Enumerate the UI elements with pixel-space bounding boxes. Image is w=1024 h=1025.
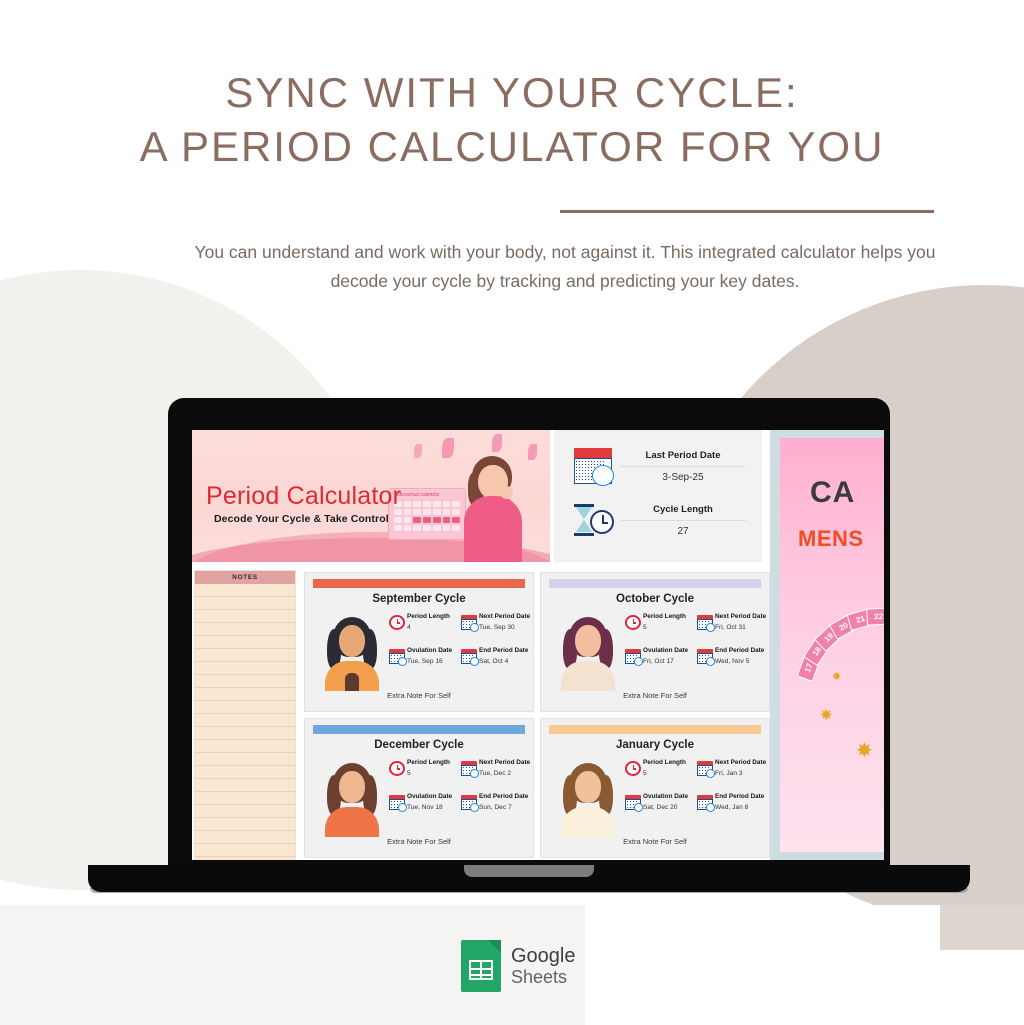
calendar-clock-icon [697, 615, 713, 630]
cycle-card-fields: Period Length5Next Period DateFri, Oct 3… [625, 613, 765, 685]
laptop-screen: Menstrual calendar [192, 430, 884, 860]
spreadsheet-canvas: Menstrual calendar [192, 430, 884, 860]
cycle-field-value: Sun, Dec 7 [479, 804, 512, 811]
clock-icon [389, 761, 405, 776]
product-name: Sheets [511, 967, 576, 987]
cycle-field-label: Period Length [407, 613, 450, 620]
cycle-card-note[interactable]: Extra Note For Self [305, 691, 533, 700]
notes-line[interactable] [195, 623, 295, 636]
calendar-clock-icon [461, 649, 477, 664]
notes-line[interactable] [195, 766, 295, 779]
notes-line[interactable] [195, 688, 295, 701]
cycle-field-label: Next Period Date [479, 759, 530, 766]
cycle-field-value: Tue, Dec 2 [479, 770, 511, 777]
cycle-card-avatar [551, 759, 625, 837]
cycle-card-color-bar [549, 725, 761, 734]
notes-panel-header: NOTES [195, 571, 295, 584]
cycle-field-value: Tue, Sep 16 [407, 658, 443, 665]
calendar-clock-icon [697, 795, 713, 810]
notes-line[interactable] [195, 792, 295, 805]
cycle-card-note[interactable]: Extra Note For Self [305, 837, 533, 846]
calendar-clock-icon [389, 795, 405, 810]
notes-line[interactable] [195, 636, 295, 649]
notes-line[interactable] [195, 753, 295, 766]
notes-line[interactable] [195, 610, 295, 623]
background-bottom-right [940, 905, 1024, 950]
notes-line[interactable] [195, 779, 295, 792]
side-poster-heading-top: CA [810, 476, 855, 510]
cycle-card-avatar [315, 759, 389, 837]
cycle-field-value: Wed, Jan 8 [715, 804, 748, 811]
cycle-field-label: Period Length [643, 613, 686, 620]
cycle-card-title: September Cycle [305, 593, 533, 605]
notes-line[interactable] [195, 740, 295, 753]
notes-line[interactable] [195, 831, 295, 844]
calendar-clock-icon [574, 448, 612, 484]
clock-icon [625, 761, 641, 776]
cycle-card-title: December Cycle [305, 739, 533, 751]
cycle-dial-day: 22 [866, 607, 884, 625]
cycle-field-value: Fri, Jan 3 [715, 770, 742, 777]
calendar-clock-icon [461, 761, 477, 776]
cycle-field-label: Next Period Date [715, 759, 766, 766]
cycle-card-october[interactable]: October CyclePeriod Length5Next Period D… [540, 572, 770, 712]
cycle-field-label: Period Length [407, 759, 450, 766]
calendar-clock-icon [625, 795, 641, 810]
calendar-clock-icon [389, 649, 405, 664]
notes-line[interactable] [195, 675, 295, 688]
summary-info-panel: Last Period Date 3-Sep-25 Cycle Length 2… [554, 430, 762, 562]
banner-calendar-caption: Menstrual calendar [397, 492, 440, 498]
cycle-field-label: Ovulation Date [643, 647, 688, 654]
cycle-card-color-bar [549, 579, 761, 588]
clock-icon [625, 615, 641, 630]
cycle-field-value: Fri, Oct 17 [643, 658, 674, 665]
cycle-card-title: January Cycle [541, 739, 769, 751]
cycle-card-title: October Cycle [541, 593, 769, 605]
banner-header: Menstrual calendar [192, 430, 550, 562]
cycle-card-fields: Period Length4Next Period DateTue, Sep 3… [389, 613, 529, 685]
side-poster-panel: CA MENS 17181920212223242526 ✸ ✸ ✸ [770, 430, 884, 860]
notes-lines[interactable] [195, 584, 295, 860]
cycle-card-note[interactable]: Extra Note For Self [541, 837, 769, 846]
calendar-clock-icon [697, 761, 713, 776]
cycle-card-color-bar [313, 579, 525, 588]
notes-line[interactable] [195, 844, 295, 857]
cycle-field-label: End Period Date [715, 793, 764, 800]
notes-line[interactable] [195, 727, 295, 740]
notes-line[interactable] [195, 597, 295, 610]
cycle-field-label: Ovulation Date [643, 793, 688, 800]
cycle-length-label: Cycle Length [620, 504, 746, 515]
page-title-line-1: SYNC WITH YOUR CYCLE: [0, 66, 1024, 120]
calendar-clock-icon [697, 649, 713, 664]
notes-line[interactable] [195, 662, 295, 675]
notes-line[interactable] [195, 584, 295, 597]
cycle-field-value: 5 [643, 624, 647, 631]
cycle-field-label: End Period Date [479, 647, 528, 654]
cycle-card-fields: Period Length5Next Period DateTue, Dec 2… [389, 759, 529, 831]
last-period-date-value[interactable]: 3-Sep-25 [620, 466, 746, 483]
cycle-card-avatar [551, 613, 625, 691]
page-title-line-2: A PERIOD CALCULATOR FOR YOU [0, 120, 1024, 174]
page-title: SYNC WITH YOUR CYCLE: A PERIOD CALCULATO… [0, 66, 1024, 174]
laptop-mockup: Menstrual calendar [168, 398, 890, 888]
google-sheets-icon [461, 940, 501, 992]
notes-line[interactable] [195, 714, 295, 727]
cycle-field-label: Ovulation Date [407, 647, 452, 654]
cycle-field-value: Tue, Sep 30 [479, 624, 515, 631]
cycle-card-note[interactable]: Extra Note For Self [541, 691, 769, 700]
cycle-card-january[interactable]: January CyclePeriod Length5Next Period D… [540, 718, 770, 858]
notes-line[interactable] [195, 857, 295, 860]
title-divider [560, 210, 934, 213]
side-poster-inner: CA MENS 17181920212223242526 ✸ ✸ ✸ [780, 438, 884, 852]
cycle-length-value[interactable]: 27 [620, 520, 746, 537]
banner-subtitle: Decode Your Cycle & Take Control [214, 513, 389, 525]
cycle-field-label: Ovulation Date [407, 793, 452, 800]
cycle-field-label: Next Period Date [479, 613, 530, 620]
cycle-field-value: Wed, Nov 5 [715, 658, 749, 665]
google-sheets-badge: Google Sheets [461, 938, 591, 994]
cycle-field-value: Sat, Dec 20 [643, 804, 677, 811]
cycle-card-avatar [315, 613, 389, 691]
notes-line[interactable] [195, 701, 295, 714]
cycle-card-color-bar [313, 725, 525, 734]
hourglass-clock-icon [574, 502, 612, 542]
cycle-field-label: End Period Date [479, 793, 528, 800]
cycle-field-label: End Period Date [715, 647, 764, 654]
last-period-date-label: Last Period Date [620, 450, 746, 461]
cycle-field-label: Period Length [643, 759, 686, 766]
cycle-card-fields: Period Length5Next Period DateFri, Jan 3… [625, 759, 765, 831]
notes-panel[interactable]: NOTES [194, 570, 296, 860]
calendar-clock-icon [461, 795, 477, 810]
notes-line[interactable] [195, 649, 295, 662]
cycle-field-value: 4 [407, 624, 411, 631]
calendar-clock-icon [461, 615, 477, 630]
brand-name: Google [511, 945, 576, 967]
cycle-field-value: Sat, Oct 4 [479, 658, 508, 665]
page-subtitle: You can understand and work with your bo… [190, 238, 940, 296]
notes-line[interactable] [195, 818, 295, 831]
cycle-field-value: 5 [643, 770, 647, 777]
cycle-card-september[interactable]: September CyclePeriod Length4Next Period… [304, 572, 534, 712]
laptop-trackpad-notch [464, 865, 594, 877]
clock-icon [389, 615, 405, 630]
notes-line[interactable] [195, 805, 295, 818]
cycle-card-december[interactable]: December CyclePeriod Length5Next Period … [304, 718, 534, 858]
side-poster-heading-bottom: MENS [798, 526, 864, 552]
cycle-field-value: Fri, Oct 31 [715, 624, 746, 631]
cycle-field-label: Next Period Date [715, 613, 766, 620]
banner-woman-illustration [460, 456, 526, 562]
cycle-field-value: 5 [407, 770, 411, 777]
calendar-clock-icon [625, 649, 641, 664]
cycle-field-value: Tue, Nov 18 [407, 804, 443, 811]
banner-title: Period Calculator [206, 482, 401, 511]
